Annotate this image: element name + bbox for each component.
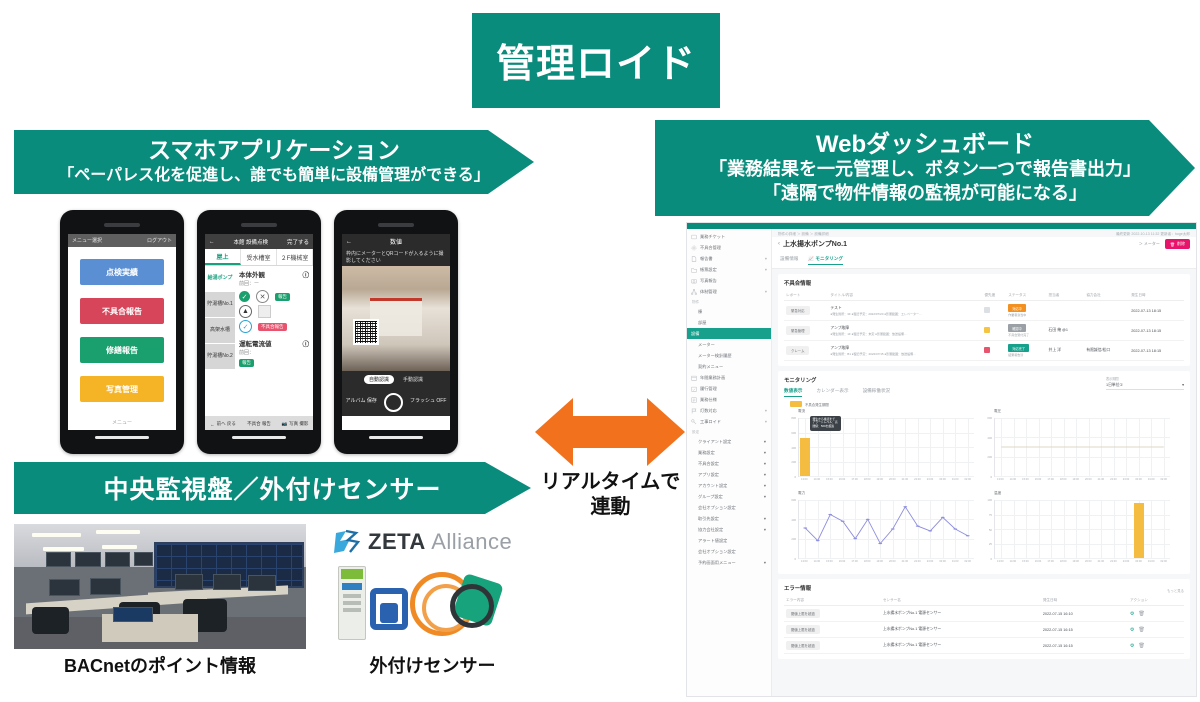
x-tick: 00:00 [1135, 560, 1142, 563]
table-row[interactable]: 緊急対応 テスト●発生箇所：3F ●復旧予定：2022/07/20 ●影響範囲：… [784, 301, 1184, 321]
sidebar-item-work-settings[interactable]: 業務設定▾ [687, 447, 771, 458]
form-section-current: 運転電流値 ⓘ [239, 338, 309, 348]
help-icon[interactable]: ⓘ [303, 338, 310, 348]
status-badge: 対応中 [1008, 304, 1026, 312]
sidebar-label: 不具合管理 [700, 245, 721, 251]
sidebar-group-label-property: 物件 [687, 297, 771, 306]
sidebar-label-active: 設備 [691, 331, 699, 337]
sidebar-item-partner-settings[interactable]: 取引先設定▾ [687, 513, 771, 524]
x-tick: 14:00 [1010, 478, 1017, 481]
sidebar-item-account-settings[interactable]: アカウント設定▾ [687, 480, 771, 491]
tools-icon [691, 419, 697, 425]
chart-2: 電力020040060013:0014:0015:0016:0017:0018:… [784, 491, 976, 569]
sidebar-item-equipment[interactable]: 設備 [687, 328, 771, 339]
arrow-left-icon: ← [210, 422, 215, 427]
legend-swatch [790, 401, 802, 407]
zeta-suffix-text: Alliance [431, 529, 512, 554]
check-circle-icon[interactable]: ✓ [239, 320, 252, 333]
y-axis: 0200400600800 [784, 418, 797, 477]
sidebar-label: 不具合設定 [698, 461, 719, 466]
plot-area [994, 500, 1170, 559]
col-status: ステータス [1006, 291, 1046, 301]
external-sensor-photo [330, 558, 530, 648]
recognition-mode-toggle: 自動認識 手動認識 [342, 371, 450, 388]
x-tick: 21:00 [1098, 478, 1105, 481]
period-select-value: 1日単位① [1106, 382, 1123, 388]
flag-icon [691, 408, 697, 414]
defect-title: テスト [830, 306, 841, 310]
banner-smartphone-subtitle: 「ペーパレス化を促進し、誰でも簡単に設備管理ができる」 [58, 166, 490, 186]
x-tick: 16:00 [839, 560, 846, 563]
toggle-manual-recognition[interactable]: 手動認識 [398, 375, 428, 384]
trash-icon[interactable]: 🗑 [1139, 627, 1145, 633]
x-tick: 01:00 [952, 560, 959, 563]
chevron-down-icon: ▾ [1182, 382, 1184, 388]
col-sensor-name: センサー名 [881, 596, 1041, 606]
x-tick: 20:00 [1085, 478, 1092, 481]
phone-speaker [378, 223, 414, 227]
x-axis: 13:0014:0015:0016:0017:0018:0019:0020:00… [994, 560, 1170, 568]
sidebar-item-annual-plan[interactable]: 年間業務計画 [687, 372, 771, 383]
x-tick: 23:00 [927, 478, 934, 481]
bottom-defect-button[interactable]: 不具合 報告 [241, 416, 277, 430]
web-dashboard-screenshot: 業務チケット 不具合管理 報告書 ▾ 帳票設定 ▾ 写真報告 [686, 222, 1197, 697]
status-sub: 結果報告済 [1008, 353, 1044, 357]
table-row[interactable]: 閾値上限を超過 上水揚水ポンプNo.1 電源センサー 2022-07-15 16… [784, 606, 1184, 622]
plot-area [994, 418, 1170, 477]
chevron-down-icon: ▾ [764, 516, 766, 521]
equipment-item-tank1[interactable]: 貯湯槽No.1 [205, 292, 235, 318]
x-tick: 17:00 [851, 560, 858, 563]
sidebar-item-defect[interactable]: 不具合管理 [687, 242, 771, 253]
equipment-item-elevated-tank[interactable]: 高架水槽 [205, 318, 235, 344]
created-at: 2022-07-13 18:15 [1131, 329, 1161, 333]
camera-icon: 📷 [282, 421, 288, 427]
sidebar-label: 年間業務計画 [700, 375, 725, 381]
caption-bacnet: BACnetのポイント情報 [14, 652, 306, 678]
y-tick: 100 [987, 498, 992, 502]
org-icon [691, 289, 697, 295]
y-tick: 0 [794, 475, 796, 479]
tab-2f-machine-room[interactable]: ２F機械室 [277, 249, 313, 265]
assignee [1047, 301, 1085, 321]
table-row[interactable]: クレーム アンプ故障●発生箇所：B1 ●復旧予定：2022/07/15 ●影響範… [784, 341, 1184, 361]
camera-viewfinder [342, 266, 450, 371]
x-tick: 15:00 [826, 560, 833, 563]
chevron-down-icon: ▾ [765, 256, 767, 261]
sidebar-item-lighting[interactable]: 灯数対応 ▾ [687, 405, 771, 416]
sidebar-item-contract-menu[interactable]: 契約メニュー [687, 361, 771, 372]
meter-link[interactable]: ＞ メーター [1139, 241, 1160, 247]
memo-icon[interactable] [258, 305, 271, 318]
x-tick: 18:00 [1060, 478, 1067, 481]
chevron-down-icon: ▾ [765, 289, 767, 294]
equipment-item-pump[interactable]: 給湯ポンプ [205, 266, 235, 292]
menu-button-defect-report[interactable]: 不具合報告 [80, 298, 164, 324]
bar[interactable] [1134, 503, 1145, 558]
phone-mockup-inspection: ← 本館 設備点検 完了する 屋上 受水槽室 ２F機械室 給湯ポンプ 貯湯槽No… [197, 210, 321, 454]
clamp-sensor-ring [450, 584, 494, 628]
x-tick: 22:00 [914, 560, 921, 563]
report-tag: クレーム [786, 346, 809, 355]
sidebar-label: 業務設定 [698, 450, 715, 455]
sidebar-item-form-settings[interactable]: 帳票設定 ▾ [687, 264, 771, 275]
bottom-prev-label: 前へ 戻る [217, 421, 236, 427]
x-tick: 21:00 [902, 560, 909, 563]
camera-controls: アルバム 保存 フラッシュ OFF [342, 388, 450, 416]
chart-3: 温度025507510013:0014:0015:0016:0017:0018:… [980, 491, 1172, 569]
back-arrow-icon[interactable]: ← [209, 239, 215, 245]
x-tick: 19:00 [1072, 478, 1079, 481]
zeta-wordmark: ZETA Alliance [368, 529, 512, 555]
report-button[interactable]: 報告 [275, 293, 290, 301]
x-tick: 01:00 [1148, 560, 1155, 563]
defect-detail: ●発生箇所：3F ●復旧予定：2022/07/20 ●影響範囲：エレベーター… [830, 312, 980, 316]
chevron-down-icon: ▾ [764, 450, 766, 455]
sensor-name: 上水揚水ポンプNo.1 電源センサー [881, 638, 1041, 654]
sidebar-label: 灯数対応 [700, 408, 717, 414]
banner-central-title: 中央監視盤／外付けセンサー [103, 470, 441, 506]
menu-button-inspection[interactable]: 点検実績 [80, 259, 164, 285]
x-tick: 16:00 [1035, 478, 1042, 481]
y-tick: 800 [791, 416, 796, 420]
error-table: エラー内容 センサー名 発生日時 アクション 閾値上限を超過 上水揚水ポンプNo… [784, 596, 1184, 654]
col-occurred-at: 発生日時 [1041, 596, 1128, 606]
report-tag: 緊急管理 [786, 326, 810, 335]
phone-home-indicator [369, 436, 423, 439]
sidebar-item-spec[interactable]: 業務仕様 [687, 394, 771, 405]
bar[interactable] [800, 438, 811, 476]
sidebar-label: 体制管理 [700, 289, 717, 295]
error-type-tag: 閾値上限を超過 [786, 641, 820, 650]
phone1-footer-label: メニュー [68, 419, 176, 426]
col-report: レポート [784, 291, 828, 301]
x-tick: 14:00 [814, 478, 821, 481]
delete-button[interactable]: 🗑 削除 [1165, 239, 1190, 249]
tab-calendar-display[interactable]: カレンダー表示 [816, 388, 848, 397]
x-tick: 13:00 [997, 478, 1004, 481]
share-icon[interactable]: ⚙ [1130, 611, 1134, 617]
charts-container: 電流0200400600800発生から確認までアラートレベル：高閾値：500を超… [784, 409, 1184, 569]
sidebar-item-meter-history[interactable]: メーター検針履歴 [687, 350, 771, 361]
camera-hint-text: 枠内にメーターとQRコードが入るように撮影してください [342, 249, 450, 266]
sidebar-label: 工事ロイド [700, 419, 721, 425]
close-icon[interactable]: ✕ [256, 290, 269, 303]
status-badge: 確認中 [1008, 324, 1026, 332]
bottom-prev-button[interactable]: ←前へ 戻る [205, 416, 241, 430]
shutter-button[interactable] [384, 393, 403, 412]
y-tick: 400 [791, 518, 796, 522]
sidebar-label: 帳票設定 [700, 267, 717, 273]
form-previous-value-2: 前回： [239, 349, 309, 356]
x-tick: 19:00 [876, 560, 883, 563]
phone2-equipment-list: 給湯ポンプ 貯湯槽No.1 高架水槽 貯湯槽No.2 [205, 266, 235, 416]
sidebar-item-company-option[interactable]: 会社オプション設定 [687, 502, 771, 513]
priority-badge [984, 327, 990, 333]
breadcrumb[interactable]: 物件の詳細 ＞ 設備 ＞ 設備詳細 [778, 232, 829, 237]
form-section-title: 本体外観 [239, 269, 265, 279]
x-tick: 01:00 [952, 478, 959, 481]
sidebar-item-org[interactable]: 体制管理 ▾ [687, 286, 771, 297]
plot-area [798, 500, 974, 559]
sync-caption-line2: 連動 [528, 495, 693, 520]
bottom-defect-label: 不具合 報告 [247, 421, 271, 427]
phone2-complete-button[interactable]: 完了する [287, 238, 309, 246]
x-tick: 19:00 [876, 478, 883, 481]
trash-icon[interactable]: 🗑 [1139, 611, 1145, 617]
chevron-down-icon: ▾ [765, 419, 767, 424]
x-tick: 18:00 [864, 560, 871, 563]
tab-monitoring[interactable]: 📈 モニタリング [808, 256, 843, 265]
ticket-icon [691, 234, 697, 240]
bottom-camera-button[interactable]: 📷写真 撮影 [277, 416, 313, 430]
dashboard-title-row: ‹ 上水揚水ポンプNo.1 ＞ メーター 🗑 削除 [772, 237, 1196, 253]
control-room-photo [14, 524, 306, 649]
gear-icon [691, 245, 697, 251]
sidebar-item-subcontractor-settings[interactable]: 協力会社設定▾ [687, 524, 771, 535]
equipment-item-tank2[interactable]: 貯湯槽No.2 [205, 344, 235, 370]
phone2-floor-tabs: 屋上 受水槽室 ２F機械室 [205, 249, 313, 266]
phone-speaker [241, 223, 277, 227]
sidebar-label: グループ設定 [698, 494, 723, 499]
qr-code-overlay [353, 319, 379, 345]
trash-icon: 🗑 [1170, 242, 1175, 247]
sensor-module-device [338, 566, 366, 640]
sidebar-item-construction[interactable]: 工事ロイド ▾ [687, 416, 771, 427]
assignee: 石田 俺 @1 [1047, 321, 1085, 341]
x-tick: 17:00 [1047, 560, 1054, 563]
x-tick: 18:00 [864, 478, 871, 481]
y-tick: 75 [989, 513, 992, 517]
chevron-down-icon: ▾ [764, 472, 766, 477]
line-series [995, 418, 1170, 476]
menu-button-repair-report[interactable]: 修繕報告 [80, 337, 164, 363]
album-save-button[interactable]: アルバム 保存 [346, 399, 377, 405]
table-row[interactable]: 緊急管理 アンプ故障●発生箇所：1F ●復旧予定：未定 ●影響範囲：放送設備… … [784, 321, 1184, 341]
sidebar-item-reserve-menu[interactable]: 予約画面用メニュー▾ [687, 557, 771, 568]
x-axis: 13:0014:0015:0016:0017:0018:0019:0020:00… [798, 560, 974, 568]
chevron-down-icon: ▾ [765, 408, 767, 413]
trash-icon[interactable]: 🗑 [1139, 643, 1145, 649]
x-tick: 13:00 [801, 560, 808, 563]
sidebar-label: 協力会社設定 [698, 527, 723, 532]
form-section-appearance: 本体外観 ⓘ [239, 269, 309, 279]
defect-table: レポート タイトル/内容 優先度 ステータス 担当者 協力会社 発生日時 緊急対… [784, 291, 1184, 361]
sidebar-item-execution[interactable]: 履行管理 [687, 383, 771, 394]
equipment-page-title: 上水揚水ポンプNo.1 [783, 239, 847, 249]
error-type-tag: 閾値上限を超過 [786, 609, 820, 618]
defect-card-title: 不具合情報 [784, 279, 1184, 287]
zeta-alliance-logo: ZETA Alliance [332, 528, 528, 556]
error-more-link[interactable]: もっと見る [1167, 588, 1184, 593]
y-tick: 600 [791, 431, 796, 435]
error-card-title: エラー情報 [784, 584, 811, 592]
col-partner: 協力会社 [1084, 291, 1129, 301]
sidebar-item-report[interactable]: 報告書 ▾ [687, 253, 771, 264]
product-title-banner: 管理ロイド [472, 13, 720, 108]
x-tick: 00:00 [939, 478, 946, 481]
x-tick: 23:00 [1123, 478, 1130, 481]
zeta-brand-text: ZETA [368, 529, 426, 554]
tab-equipment-info[interactable]: 設備情報 [780, 256, 798, 265]
x-tick: 13:00 [997, 560, 1004, 563]
y-axis: 0255075100 [980, 500, 993, 559]
banner-smartphone-app: スマホアプリケーション 「ペーパレス化を促進し、誰でも簡単に設備管理ができる」 [14, 130, 534, 194]
sync-caption: リアルタイムで 連動 [528, 470, 693, 520]
monitoring-title: モニタリング [784, 376, 890, 384]
partner: 有限誠信/松口 [1084, 341, 1129, 361]
tab-numeric-display[interactable]: 数値表示 [784, 388, 802, 397]
sidebar-item-app-settings[interactable]: アプリ設定▾ [687, 469, 771, 480]
sidebar-item-group-settings[interactable]: グループ設定▾ [687, 491, 771, 502]
defect-title: アンプ故障 [830, 326, 849, 330]
sidebar-item-room[interactable]: 部屋 [687, 317, 771, 328]
camera-icon [691, 278, 697, 284]
sidebar-label: アプリ設定 [698, 472, 719, 477]
current-transformer-body [380, 603, 398, 623]
calendar-check-icon [691, 386, 697, 392]
x-axis: 13:0014:0015:0016:0017:0018:0019:0020:00… [994, 478, 1170, 486]
form-section-title-2: 運転電流値 [239, 338, 272, 348]
chevron-down-icon: ▾ [765, 267, 767, 272]
y-tick: 50 [989, 528, 992, 532]
phone3-navbar: ← 数値 [342, 234, 450, 249]
phone1-screen: メニュー選択 ログアウト 点検実績 不具合報告 修繕報告 写真管理 メニュー [68, 234, 176, 430]
banner-web-subtitle-1: 「業務結果を一元管理し、ボタン一つで報告書出力」 [709, 158, 1141, 181]
document-icon [691, 256, 697, 262]
phone1-status-right: ログアウト [147, 237, 172, 244]
dashboard-main: 物件の詳細 ＞ 設備 ＞ 設備詳細 最終更新 2022-10-13 11:32 … [772, 229, 1196, 696]
chevron-down-icon: ▾ [764, 560, 766, 565]
defect-detail: ●発生箇所：B1 ●復旧予定：2022/07/15 ●影響範囲：放送設備… [830, 352, 980, 356]
partner [1084, 301, 1129, 321]
menu-button-photo-manage[interactable]: 写真管理 [80, 376, 164, 402]
x-tick: 15:00 [1022, 478, 1029, 481]
report-button-2[interactable]: 報告 [239, 359, 254, 367]
form-choice-row-1: ✓ ✕ 報告 [239, 290, 309, 303]
phone1-statusbar: メニュー選択 ログアウト [68, 234, 176, 247]
chevron-down-icon: ▾ [764, 494, 766, 499]
period-select[interactable]: 表示期間 1日単位①▾ [1106, 376, 1184, 390]
defect-report-button[interactable]: 不具合報告 [258, 323, 287, 331]
phone2-form: 本体外観 ⓘ 前回：ー ✓ ✕ 報告 ▲ ✓ 不具合報告 [235, 266, 313, 416]
back-arrow-icon[interactable]: ← [346, 239, 352, 245]
sidebar-item-company-option-2[interactable]: 会社オプション設定 [687, 546, 771, 557]
created-at: 2022-07-13 18:15 [1131, 309, 1161, 313]
share-icon[interactable]: ⚙ [1130, 643, 1134, 649]
x-tick: 20:00 [889, 478, 896, 481]
sidebar-group-label-settings: 設定 [687, 427, 771, 436]
x-tick: 20:00 [1085, 560, 1092, 563]
sidebar-label: アカウント設定 [698, 483, 727, 488]
x-tick: 23:00 [1123, 560, 1130, 563]
legend-label: 不具合発生期間 [805, 402, 829, 407]
monitoring-card: モニタリング 数値表示 カレンダー表示 設備稼働状況 表示期間 1日単位①▾ [778, 371, 1190, 574]
x-tick: 17:00 [851, 478, 858, 481]
col-assignee: 担当者 [1047, 291, 1085, 301]
phone-mockup-menu: メニュー選択 ログアウト 点検実績 不具合報告 修繕報告 写真管理 メニュー [60, 210, 184, 454]
folder-icon [691, 267, 697, 273]
x-tick: 23:00 [927, 560, 934, 563]
x-tick: 14:00 [814, 560, 821, 563]
col-created: 発生日時 [1129, 291, 1184, 301]
y-tick: 0 [794, 557, 796, 561]
triangle-icon[interactable]: ▲ [239, 305, 252, 318]
priority-badge [984, 307, 990, 313]
col-title: タイトル/内容 [828, 291, 982, 301]
phone-mockup-camera: ← 数値 枠内にメーターとQRコードが入るように撮影してください 自動認識 手動… [334, 210, 458, 454]
sidebar-label: 報告書 [700, 256, 713, 262]
sensor-name: 上水揚水ポンプNo.1 電源センサー [881, 606, 1041, 622]
back-chevron-icon[interactable]: ‹ [778, 241, 780, 247]
last-updated-text: 最終更新 2022-10-13 11:32 更新者：hoge太郎 [1116, 232, 1190, 237]
y-tick: 400 [987, 436, 992, 440]
x-tick: 02:00 [1160, 560, 1167, 563]
sync-caption-line1: リアルタイムで [528, 470, 693, 495]
phone2-nav-title: 本館 設備点検 [233, 238, 268, 246]
sidebar-item-defect-settings[interactable]: 不具合設定▾ [687, 458, 771, 469]
flash-toggle-button[interactable]: フラッシュ OFF [410, 399, 446, 405]
x-tick: 20:00 [889, 560, 896, 563]
tab-water-tank-room[interactable]: 受水槽室 [241, 249, 277, 265]
y-tick: 200 [791, 460, 796, 464]
form-previous-value: 前回：ー [239, 280, 309, 287]
chart-tooltip: 発生から確認までアラートレベル：高閾値：500を超過 [810, 416, 841, 431]
sidebar-label: 取引先設定 [698, 516, 719, 521]
x-tick: 22:00 [1110, 478, 1117, 481]
occurred-at: 2022-07-15 16:15 [1041, 638, 1128, 654]
x-tick: 02:00 [964, 478, 971, 481]
chevron-down-icon: ▾ [764, 439, 766, 444]
tab-rooftop[interactable]: 屋上 [205, 249, 241, 265]
check-icon[interactable]: ✓ [239, 291, 250, 302]
caption-external-sensor: 外付けセンサー [330, 652, 535, 678]
phone1-menu-list: 点検実績 不具合報告 修繕報告 写真管理 [68, 247, 176, 402]
phone3-nav-title: 数値 [390, 237, 402, 246]
help-icon[interactable]: ⓘ [303, 269, 310, 279]
toggle-auto-recognition[interactable]: 自動認識 [364, 375, 394, 384]
phone2-navbar: ← 本館 設備点検 完了する [205, 234, 313, 249]
sidebar-item-photo-report[interactable]: 写真報告 [687, 275, 771, 286]
x-tick: 15:00 [826, 478, 833, 481]
chart-title: 温度 [994, 491, 1172, 496]
phone2-screen: ← 本館 設備点検 完了する 屋上 受水槽室 ２F機械室 給湯ポンプ 貯湯槽No… [205, 234, 313, 430]
chart-1: 電圧020040060013:0014:0015:0016:0017:0018:… [980, 409, 1172, 487]
share-icon[interactable]: ⚙ [1130, 627, 1134, 633]
chart-title: 電流 [798, 409, 976, 414]
x-tick: 18:00 [1060, 560, 1067, 563]
error-info-card: エラー情報 もっと見る エラー内容 センサー名 発生日時 アクション 閾値上限を… [778, 579, 1190, 659]
x-tick: 01:00 [1148, 478, 1155, 481]
page-title: 管理ロイド [496, 33, 696, 89]
x-tick: 02:00 [1160, 478, 1167, 481]
table-row[interactable]: 閾値上限を超過 上水揚水ポンプNo.1 電源センサー 2022-07-15 16… [784, 622, 1184, 638]
table-row[interactable]: 閾値上限を超過 上水揚水ポンプNo.1 電源センサー 2022-07-15 16… [784, 638, 1184, 654]
sidebar-item-alert-threshold[interactable]: アラート値設定 [687, 535, 771, 546]
bottom-camera-label: 写真 撮影 [289, 421, 308, 427]
x-tick: 00:00 [1135, 478, 1142, 481]
report-tag: 緊急対応 [786, 306, 810, 315]
banner-central-monitoring: 中央監視盤／外付けセンサー [14, 462, 531, 514]
x-tick: 19:00 [1072, 560, 1079, 563]
chevron-down-icon: ▾ [764, 527, 766, 532]
tab-operation-status[interactable]: 設備稼働状況 [863, 388, 891, 397]
y-axis: 0200400600 [980, 418, 993, 477]
sidebar-item-building[interactable]: 棟 [687, 306, 771, 317]
sidebar-item-meter[interactable]: メーター [687, 339, 771, 350]
sidebar-item-ticket[interactable]: 業務チケット [687, 231, 771, 242]
sidebar-item-client-settings[interactable]: クライアント設定▾ [687, 436, 771, 447]
